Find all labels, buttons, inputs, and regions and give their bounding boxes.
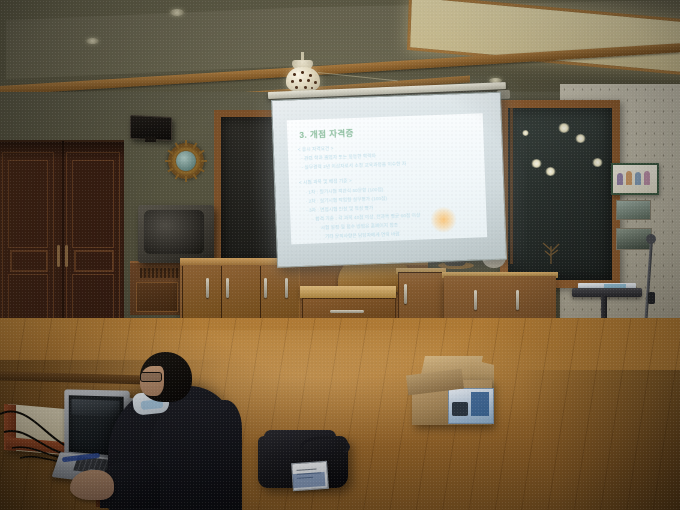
projection-screen: 3. 개점 자격증 < 응시 자격요건 > - 관련 학과 졸업자 또는 동등한… [271,92,507,268]
twig-decoration [540,238,562,264]
window-reflection [531,159,542,168]
av-cart-shelf [572,288,642,297]
wall-photo-landscape [616,200,651,220]
closet-handle-left[interactable] [57,245,60,267]
window-reflection [558,123,570,133]
slide-body-line: 기타 문의사항은 담당자에게 연락 바람 [325,231,400,240]
downlight-icon [170,9,184,16]
presentation-slide: 3. 개점 자격증 < 응시 자격요건 > - 관련 학과 졸업자 또는 동등한… [287,113,487,244]
window-reflection [545,167,556,176]
mirror-glass [176,151,196,171]
cabinet-handle[interactable] [226,278,229,298]
drawer-pull[interactable] [330,310,364,313]
person-hand [70,470,114,500]
slide-accent-glow [430,206,457,233]
window-reflection [592,158,603,167]
slide-title: 3. 개점 자격증 [299,127,354,141]
person-shoulder [150,400,242,510]
tripod-clamp[interactable] [648,292,655,304]
bag-card-blue-band [293,472,326,488]
laptop-screen-glare [72,399,120,418]
tv-stand-door-left[interactable] [136,282,178,312]
closet-handle-right[interactable] [65,245,68,267]
bag-strap [300,436,350,458]
slide-body-line: · 2차 : 실기시험 작업형 실무평가 (100점) [306,196,388,205]
product-carton-image [452,402,468,416]
cabinet-handle[interactable] [206,278,209,298]
product-carton-panel [471,392,489,416]
cabinet-handle[interactable] [285,278,288,298]
downlight-icon [86,38,99,44]
cabinet-countertop [300,286,396,298]
twig-icon [540,238,562,264]
cabinet-handle[interactable] [516,290,519,310]
window-mullion [510,108,513,264]
cabinet-handle[interactable] [404,284,407,304]
cabinet-handle[interactable] [474,290,477,310]
slide-body-line: · 1차 : 필기시험 객관식 50문항 (100점) [305,187,383,196]
slide-body-line: · 3차 : 면접시험 인성 및 적성 평가 [306,205,373,213]
speaker-bracket [145,137,156,142]
slide-body-line: · 합격 기준 : 각 과목 40점 이상, 전과목 평균 60점 이상 [312,213,420,223]
floor-shadow-right [470,370,680,510]
meeting-room-photo: 3. 개점 자격증 < 응시 자격요건 > - 관련 학과 졸업자 또는 동등한… [0,0,680,510]
closet-top-shadow [0,140,124,160]
cabinet-handle[interactable] [264,278,267,298]
slide-body-line: < 응시 자격요건 > [298,146,334,153]
glasses-icon [140,372,162,382]
framed-picture [611,163,659,195]
slide-body-line: - 실무경력 2년 이상자로서 소정 교육과정을 이수한 자 [301,161,406,171]
slide-body-line: 시험 일정 및 접수 방법은 홈페이지 참조 [321,222,399,231]
window-reflection [575,134,586,143]
tripod-head [646,234,656,244]
window-reflection [522,130,529,136]
slide-body-line: - 관련 학과 졸업자 또는 동등한 학력자 [301,153,376,162]
slide-body-line: < 시험 과목 및 배점 기준 > [299,178,352,186]
tv-screen [144,210,204,254]
